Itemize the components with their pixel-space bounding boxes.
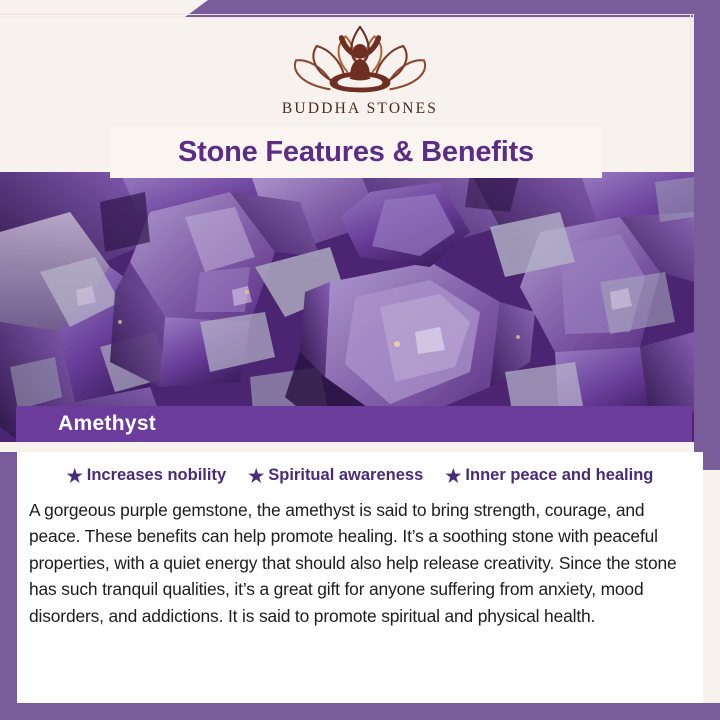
brand-logo: BUDDHA STONES [0, 22, 720, 118]
frame-bar-bottom [0, 703, 720, 720]
content-card: ★ Increases nobility ★ Spiritual awarene… [17, 452, 703, 703]
brand-name: BUDDHA STONES [282, 100, 438, 118]
amethyst-crystal-cluster-illustration [0, 172, 694, 442]
benefit-item-1: ★ Spiritual awareness [248, 466, 423, 485]
benefit-label: Increases nobility [87, 466, 226, 485]
hero-image [0, 172, 694, 442]
benefit-label: Spiritual awareness [268, 466, 423, 485]
frame-bar-left [0, 452, 17, 704]
title-banner: Stone Features & Benefits [110, 127, 602, 178]
stone-name-banner: Amethyst [16, 406, 692, 442]
stone-description: A gorgeous purple gemstone, the amethyst… [29, 497, 693, 629]
benefit-item-2: ★ Inner peace and healing [445, 466, 653, 485]
star-icon: ★ [67, 467, 83, 485]
benefit-item-0: ★ Increases nobility [67, 466, 227, 485]
poster-root: BUDDHA STONES Stone Features & Benefits [0, 0, 720, 720]
stone-name: Amethyst [58, 412, 156, 436]
frame-hairline-horizontal [0, 14, 694, 18]
star-icon: ★ [248, 467, 264, 485]
benefits-list: ★ Increases nobility ★ Spiritual awarene… [17, 452, 703, 485]
lotus-meditation-icon [280, 22, 440, 94]
benefit-label: Inner peace and healing [465, 466, 653, 485]
star-icon: ★ [445, 467, 461, 485]
page-title: Stone Features & Benefits [178, 136, 534, 169]
